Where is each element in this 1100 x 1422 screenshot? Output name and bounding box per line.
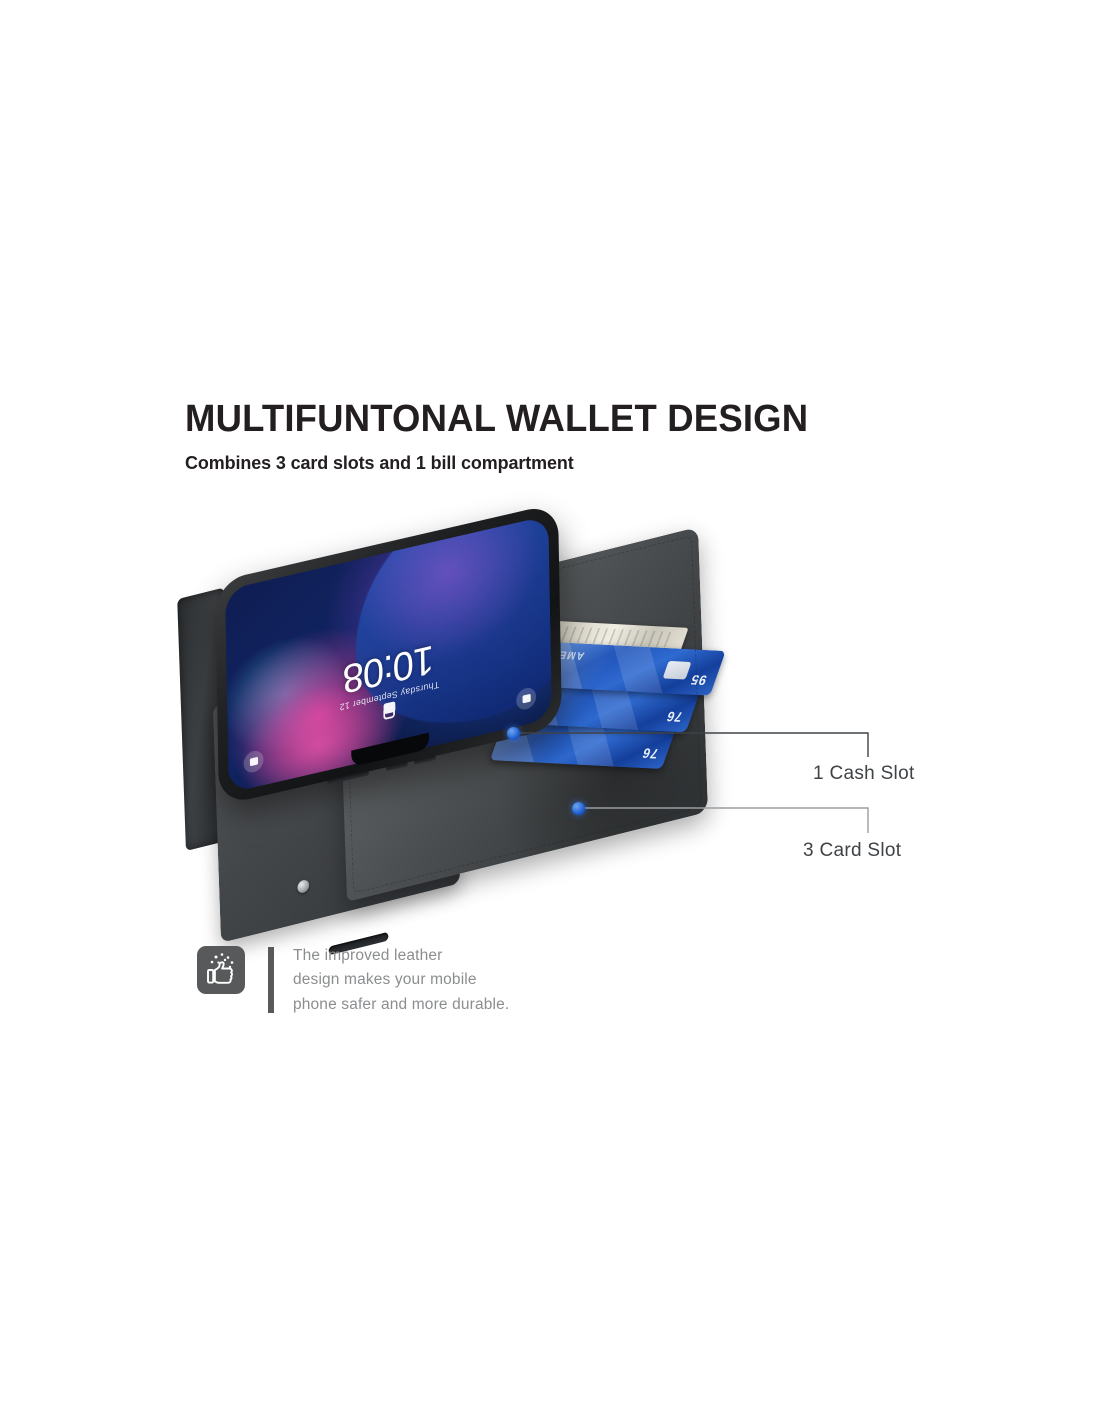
card-slot-1: AME 95	[538, 642, 725, 696]
callout-dot-card-slot	[572, 802, 585, 815]
magnetic-snap-button	[297, 879, 309, 894]
feature-divider	[268, 947, 274, 1013]
card-brand-label: AME	[557, 648, 586, 661]
page-subtitle: Combines 3 card slots and 1 bill compart…	[185, 452, 922, 474]
feature-line-3: phone safer and more durable.	[293, 993, 509, 1017]
page-title: MULTIFUNTONAL WALLET DESIGN	[185, 400, 915, 440]
callout-label-card-slot: 3 Card Slot	[803, 840, 901, 862]
heading-group: MULTIFUNTONAL WALLET DESIGN Combines 3 c…	[185, 400, 945, 474]
feature-block: The improved leather design makes your m…	[197, 946, 509, 1017]
feature-line-2: design makes your mobile	[293, 968, 509, 992]
callout-label-cash-slot: 1 Cash Slot	[813, 763, 915, 785]
card-chip	[663, 661, 692, 680]
card-number-label: 95	[688, 672, 709, 688]
card-number-label: 76	[664, 709, 685, 725]
feature-line-1: The improved leather	[293, 944, 509, 968]
lock-icon	[383, 701, 395, 714]
feature-description: The improved leather design makes your m…	[293, 944, 509, 1017]
product-photo: AME 76 AME 76 AME 95 Thursday September …	[150, 510, 850, 930]
callout-dot-cash-slot	[507, 727, 520, 740]
product-photo-inner: AME 76 AME 76 AME 95 Thursday September …	[177, 442, 823, 999]
thumbs-up-icon	[197, 946, 245, 994]
card-number-label: 76	[640, 745, 661, 761]
